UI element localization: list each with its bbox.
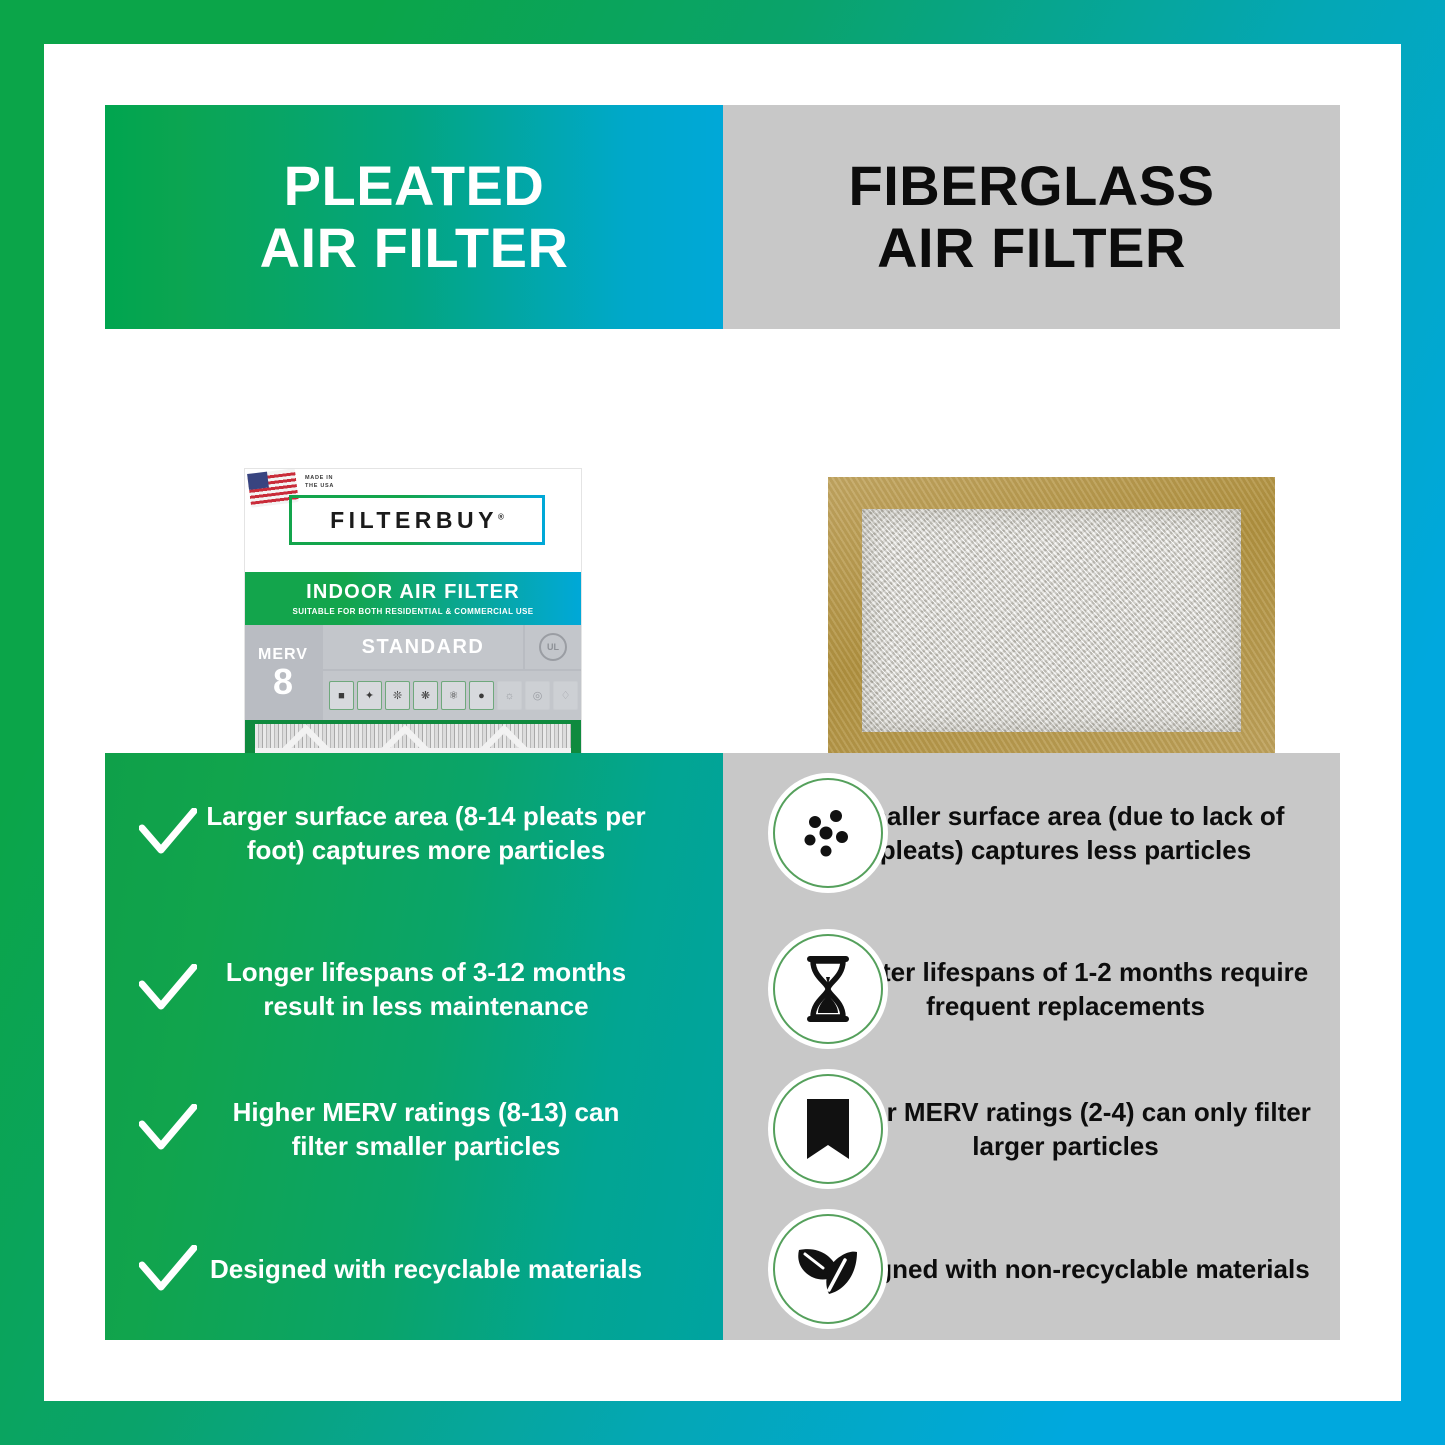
infographic-canvas: PLEATED AIR FILTER FIBERGLASS AIR FILTER… xyxy=(0,0,1445,1445)
hourglass-icon xyxy=(773,934,883,1044)
package-capability-icons: ■ ✦ ❊ ❋ ⚛ ● ☼ ◎ ♢ xyxy=(323,671,581,720)
product-image-row: MADE IN THE USA FILTERBUY® INDOOR AIR FI… xyxy=(105,329,1340,753)
comparison-row: Designed with recyclable materials Desig… xyxy=(105,1199,1340,1340)
bacteria-icon: ⚛ xyxy=(441,681,466,710)
row-left-text: Higher MERV ratings (8-13) can filter sm… xyxy=(203,1095,649,1164)
virus-icon: ♢ xyxy=(553,681,578,710)
merv-block: MERV 8 xyxy=(245,625,321,720)
header-right-title: FIBERGLASS AIR FILTER xyxy=(849,155,1215,278)
check-icon xyxy=(137,1104,199,1154)
row-left-cell: Designed with recyclable materials xyxy=(105,1245,723,1295)
header-band: PLEATED AIR FILTER FIBERGLASS AIR FILTER xyxy=(105,105,1340,329)
comparison-rows: Larger surface area (8-14 pleats per foo… xyxy=(105,753,1340,1340)
bookmark-icon xyxy=(773,1074,883,1184)
brand-logo-box: FILTERBUY® xyxy=(289,495,545,545)
header-right-fiberglass: FIBERGLASS AIR FILTER xyxy=(723,105,1340,329)
package-indoor-band: INDOOR AIR FILTER SUITABLE FOR BOTH RESI… xyxy=(245,572,581,625)
check-icon xyxy=(137,808,199,858)
row-left-text: Longer lifespans of 3-12 months result i… xyxy=(203,955,649,1024)
package-top-area: MADE IN THE USA FILTERBUY® xyxy=(245,469,581,572)
check-icon xyxy=(137,1245,199,1295)
pollen-icon: ❊ xyxy=(385,681,410,710)
header-left-pleated: PLEATED AIR FILTER xyxy=(105,105,723,329)
ul-icon: UL xyxy=(539,633,567,661)
row-left-text: Designed with recyclable materials xyxy=(203,1252,649,1286)
row-left-cell: Higher MERV ratings (8-13) can filter sm… xyxy=(105,1095,723,1164)
comparison-row: Larger surface area (8-14 pleats per foo… xyxy=(105,753,1340,913)
mold-icon: ❋ xyxy=(413,681,438,710)
made-in-usa-label: MADE IN THE USA xyxy=(305,474,334,491)
merv-value: 8 xyxy=(273,664,293,700)
grade-label: STANDARD xyxy=(362,636,485,659)
smoke-icon: ☼ xyxy=(497,681,522,710)
leaf-icon xyxy=(773,1214,883,1324)
fiberglass-media xyxy=(862,509,1241,732)
package-band-subtitle: SUITABLE FOR BOTH RESIDENTIAL & COMMERCI… xyxy=(292,607,533,616)
header-left-title: PLEATED AIR FILTER xyxy=(260,155,569,278)
brand-name: FILTERBUY® xyxy=(330,507,504,534)
package-spec-area: MERV 8 STANDARD UL ■ ✦ ❊ ❋ ⚛ xyxy=(245,625,581,720)
check-icon xyxy=(137,964,199,1014)
grade-box: STANDARD xyxy=(323,625,523,669)
comparison-row: Longer lifespans of 3-12 months result i… xyxy=(105,919,1340,1059)
particles-icon xyxy=(773,778,883,888)
ul-certification-box: UL xyxy=(525,625,581,669)
row-left-text: Larger surface area (8-14 pleats per foo… xyxy=(203,799,649,868)
odor-icon: ◎ xyxy=(525,681,550,710)
row-left-cell: Longer lifespans of 3-12 months result i… xyxy=(105,955,723,1024)
comparison-row: Higher MERV ratings (8-13) can filter sm… xyxy=(105,1059,1340,1199)
comparison-content: PLEATED AIR FILTER FIBERGLASS AIR FILTER… xyxy=(105,105,1340,1340)
dust-icon: ■ xyxy=(329,681,354,710)
package-band-title: INDOOR AIR FILTER xyxy=(306,581,520,604)
fiberglass-filter-image xyxy=(828,477,1275,765)
insect-icon: ✦ xyxy=(357,681,382,710)
pet-dander-icon: ● xyxy=(469,681,494,710)
row-left-cell: Larger surface area (8-14 pleats per foo… xyxy=(105,799,723,868)
